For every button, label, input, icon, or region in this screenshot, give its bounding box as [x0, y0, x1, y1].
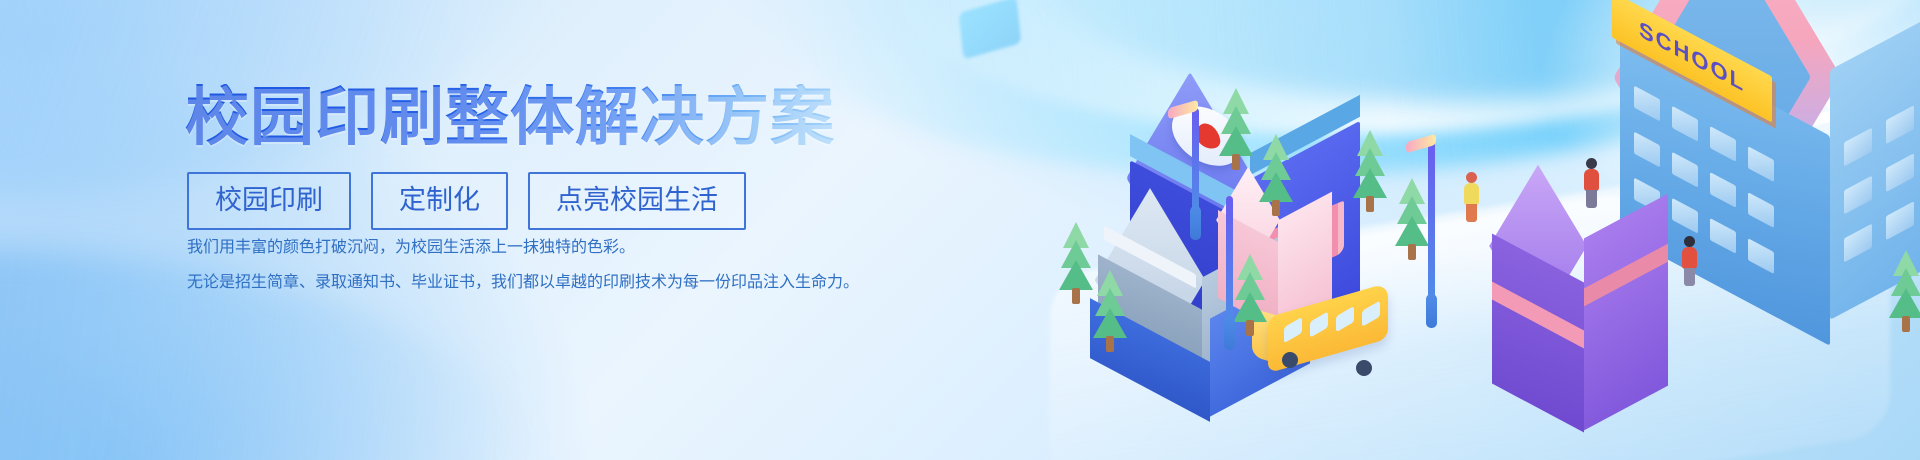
street-lamp-post	[1226, 196, 1233, 324]
tag-light-up-campus-life[interactable]: 点亮校园生活	[528, 172, 746, 230]
person-figure	[1582, 158, 1602, 210]
tree-icon	[1256, 134, 1296, 220]
tree-icon	[1230, 254, 1270, 340]
campus-printing-banner: 校园印刷整体解决方案 校园印刷 定制化 点亮校园生活 我们用丰富的颜色打破沉闷，…	[0, 0, 1920, 460]
banner-headline: 校园印刷整体解决方案	[185, 84, 835, 152]
street-lamp-post	[1428, 142, 1435, 302]
person-figure	[1680, 236, 1700, 288]
banner-content: 校园印刷整体解决方案 校园印刷 定制化 点亮校园生活 我们用丰富的颜色打破沉闷，…	[185, 0, 945, 460]
campus-illustration: SCHOOL	[1020, 0, 1920, 460]
tag-campus-printing[interactable]: 校园印刷	[187, 172, 351, 230]
street-lamp-base	[1224, 316, 1235, 350]
tree-icon	[1090, 270, 1130, 356]
tree-icon	[1350, 130, 1390, 216]
tree-icon	[1886, 250, 1920, 336]
tree-icon	[1392, 178, 1432, 264]
school-bus-wheel	[1282, 352, 1298, 368]
description-line-1: 我们用丰富的颜色打破沉闷，为校园生活添上一抹独特的色彩。	[187, 236, 859, 259]
school-bus-wheel	[1356, 360, 1372, 376]
banner-tag-list: 校园印刷 定制化 点亮校园生活	[187, 172, 746, 230]
banner-description: 我们用丰富的颜色打破沉闷，为校园生活添上一抹独特的色彩。 无论是招生简章、录取通…	[187, 236, 859, 306]
street-lamp-base	[1190, 206, 1201, 240]
person-figure	[1462, 172, 1482, 224]
description-line-2: 无论是招生简章、录取通知书、毕业证书，我们都以卓越的印刷技术为每一份印品注入生命…	[187, 271, 859, 294]
tag-customization[interactable]: 定制化	[371, 172, 508, 230]
tree-icon	[1216, 88, 1256, 174]
street-lamp-post	[1192, 108, 1199, 214]
background-ribbon	[959, 0, 1022, 59]
street-lamp-base	[1426, 294, 1437, 328]
